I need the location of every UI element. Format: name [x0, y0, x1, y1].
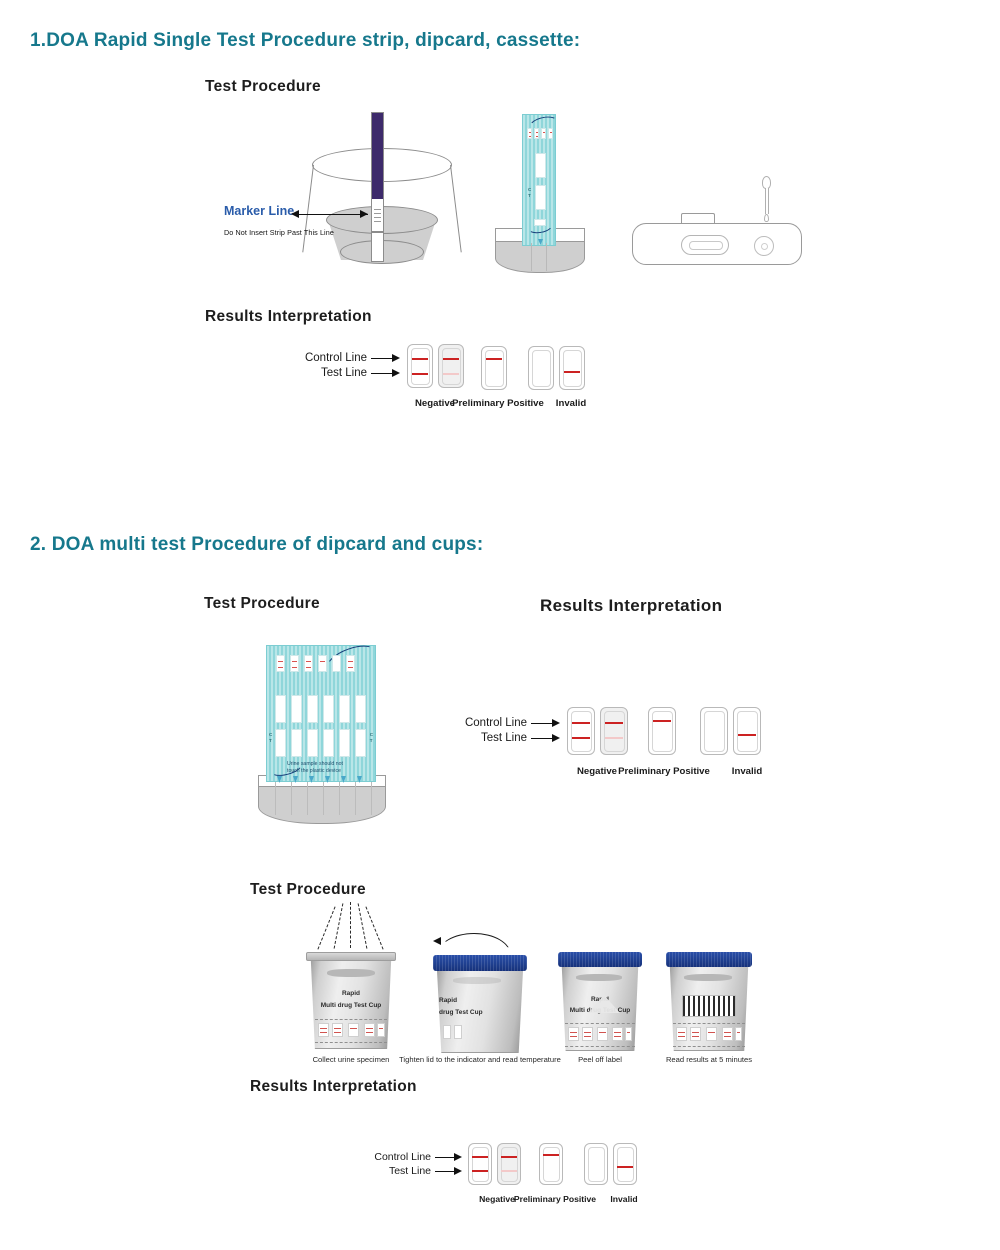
cup-step-4: Read results at 5 minutes — [648, 905, 778, 1055]
dipcard-mini-window — [346, 655, 355, 672]
control-line-arrow-head — [392, 354, 400, 362]
specimen-cup-illustration — [312, 130, 462, 280]
cassette-sample-well — [754, 236, 774, 256]
result-device-inner — [532, 350, 551, 387]
result-device-inner — [472, 1147, 489, 1182]
spray-line — [350, 902, 351, 948]
spray-line — [334, 903, 344, 948]
dipcard-mini-window — [548, 128, 553, 139]
cup-brand-line1: Rapid — [309, 990, 393, 997]
result-test-line — [412, 373, 428, 375]
cup-illustration: Rapid drug Test Cup — [435, 967, 525, 1053]
cassette-device — [632, 223, 802, 265]
cup-result-strip — [332, 1023, 343, 1037]
dipcard-window — [307, 729, 318, 757]
cup-result-strip — [625, 1027, 632, 1041]
dipcard-mini-line — [348, 667, 353, 668]
result-device-2 — [438, 344, 464, 388]
strip-tick — [374, 213, 381, 214]
dipcard-window — [275, 695, 286, 723]
strip-tick — [374, 221, 381, 222]
dipcard-ct-left: CT — [528, 187, 531, 198]
dipcard-mini-line — [543, 132, 545, 133]
dipcard-note: Urine sample should not touch the plasti… — [287, 761, 343, 775]
cup-result-strip — [568, 1027, 579, 1041]
dipcard-mini-line — [529, 132, 531, 133]
result-device-1 — [468, 1143, 492, 1185]
result-device-4 — [528, 346, 554, 390]
result-test-line — [617, 1166, 633, 1168]
result-control-line — [572, 722, 590, 724]
dipcard-mini-line — [306, 661, 311, 662]
result-device-inner — [737, 711, 758, 752]
cassette-sample-well-inner — [761, 243, 768, 250]
result-device-3 — [539, 1143, 563, 1185]
marker-arrow-head-right — [360, 210, 368, 218]
result-device-4 — [584, 1143, 608, 1185]
cup-result-strip — [706, 1027, 717, 1041]
dipcard-mini-window — [318, 655, 327, 672]
control-line-label: Control Line — [445, 717, 527, 729]
result-device-inner — [704, 711, 725, 752]
test-line-arrow-head — [392, 369, 400, 377]
dipcard-note-line2: touch the plastic device — [287, 768, 341, 774]
test-strip — [371, 112, 384, 262]
dipcard-ct-right: CT — [370, 732, 373, 743]
cup-grip — [684, 974, 732, 981]
result-test-line — [738, 734, 756, 736]
dipcard-mini-line — [306, 667, 311, 668]
rotate-arrow — [437, 933, 511, 955]
result-device-inner — [485, 350, 504, 387]
result-device-inner — [563, 350, 582, 387]
cup-step-1: Rapid Multi drug Test Cup Collect urine … — [300, 905, 410, 1055]
cup-open-rim — [306, 952, 396, 961]
spray-line — [365, 906, 383, 949]
rotate-arrow-head — [433, 937, 441, 945]
result-device-inner — [411, 348, 430, 385]
dipcard-window — [291, 729, 302, 757]
test-line-label: Test Line — [285, 367, 367, 379]
results-interpretation-group-3: Control Line Test Line Negative Prelim — [355, 1148, 685, 1218]
cup-grip — [453, 977, 501, 984]
dipcard-mini-line — [529, 136, 531, 137]
cup-brand-line2: drug Test Cup — [435, 1009, 525, 1016]
cup-result-strip — [318, 1023, 329, 1037]
result-caption-invalid: Invalid — [531, 398, 611, 409]
peel-label-flap — [588, 995, 620, 1013]
cup-result-strip — [377, 1023, 385, 1037]
result-device-inner — [571, 711, 592, 752]
test-line-arrow-head — [552, 734, 560, 742]
dipcard-immersed-tail — [531, 243, 547, 271]
result-device-inner — [617, 1147, 634, 1182]
cup-result-strip — [676, 1027, 687, 1041]
section-1-test-procedure-title: Test Procedure — [205, 78, 321, 96]
result-device-5 — [733, 707, 761, 755]
dipcard-mini-window — [304, 655, 313, 672]
cup-result-panel — [315, 1019, 387, 1043]
cup-result-strip — [454, 1025, 462, 1039]
dipcard-mini-line — [536, 136, 538, 137]
cup-result-strip — [690, 1027, 701, 1041]
cup-result-strip — [735, 1027, 742, 1041]
cup-result-panel — [673, 1023, 745, 1047]
cassette-result-window-inner — [689, 241, 723, 250]
cup-result-panel — [565, 1023, 635, 1047]
result-control-line — [443, 358, 459, 360]
cup-illustration: Rapid Multi drug Test Cup — [560, 963, 640, 1051]
section-1-results-title: Results Interpretation — [205, 308, 372, 326]
dipcard-window — [355, 695, 366, 723]
dipcard-mini-window — [534, 128, 539, 139]
result-test-line — [572, 737, 590, 739]
cup-brand-line2: Multi drug Test Cup — [309, 1002, 393, 1009]
cup-illustration — [668, 963, 750, 1051]
marker-line-note: Do Not Insert Strip Past This Line — [224, 228, 334, 237]
result-test-line — [472, 1170, 488, 1172]
test-line-arrow-line — [531, 738, 553, 739]
dipcard-mini-line — [278, 667, 283, 668]
test-line-label: Test Line — [445, 732, 527, 744]
cup-brand-line1: Rapid — [435, 997, 525, 1004]
page-root: 1.DOA Rapid Single Test Procedure strip,… — [0, 0, 1000, 1250]
dipcard-window — [307, 695, 318, 723]
dipcard-window — [339, 695, 350, 723]
cup-lid — [433, 955, 527, 971]
control-line-label: Control Line — [355, 1151, 431, 1163]
dipcard-mini-window — [527, 128, 532, 139]
control-line-arrow-head — [552, 719, 560, 727]
cup-result-strip — [722, 1027, 733, 1041]
result-control-line — [543, 1154, 559, 1156]
result-device-inner — [442, 348, 461, 385]
cup-wall-left — [302, 165, 314, 253]
section-2-dipcard-results-title: Results Interpretation — [540, 596, 722, 616]
cup-step-caption: Peel off label — [550, 1055, 650, 1064]
result-device-5 — [613, 1143, 637, 1185]
dipcard-window — [323, 729, 334, 757]
cup-step-2: Rapid drug Test Cup Tighten lid to the i… — [425, 905, 545, 1055]
dipcard-mini-line — [348, 661, 353, 662]
multi-dipcard-immersed-prongs — [272, 782, 372, 815]
result-control-line — [653, 720, 671, 722]
dipcard-mini-line — [320, 661, 325, 662]
result-device-4 — [700, 707, 728, 755]
cup-result-strip — [348, 1023, 359, 1037]
dipcard-mini-line — [536, 132, 538, 133]
dipcard-window — [535, 185, 546, 210]
result-device-inner — [543, 1147, 560, 1182]
result-device-5 — [559, 346, 585, 390]
strip-tick — [374, 217, 381, 218]
result-control-line — [412, 358, 428, 360]
dipcard-mini-window — [541, 128, 546, 139]
result-device-inner — [588, 1147, 605, 1182]
result-control-line — [605, 722, 623, 724]
cup-lid-ridges — [558, 952, 642, 967]
control-line-label: Control Line — [285, 352, 367, 364]
dipcard-mini-window — [276, 655, 285, 672]
test-strip-handle — [372, 113, 383, 199]
cup-result-strip — [612, 1027, 623, 1041]
dipcard-ct-left: CT — [269, 732, 272, 743]
spray-line — [317, 906, 335, 949]
cup-wall-right — [450, 165, 462, 253]
result-caption-invalid: Invalid — [586, 1194, 662, 1204]
result-test-line-faint — [605, 737, 623, 739]
dipcard-mini-line — [550, 132, 552, 133]
result-device-3 — [648, 707, 676, 755]
marker-line-label: Marker Line — [224, 204, 294, 218]
result-device-2 — [497, 1143, 521, 1185]
dropper-stem — [765, 188, 769, 214]
result-caption-invalid: Invalid — [705, 766, 789, 777]
result-test-line — [564, 371, 580, 373]
dipcard-window — [275, 729, 286, 757]
test-line-arrow-line — [371, 373, 393, 374]
dipcard-lower-window — [534, 219, 546, 226]
dipcard-window — [323, 695, 334, 723]
result-device-inner — [604, 711, 625, 752]
dipcard-mini-window — [290, 655, 299, 672]
dipcard-note-line1: Urine sample should not — [287, 761, 343, 767]
result-control-line — [486, 358, 502, 360]
result-test-line-faint — [501, 1170, 517, 1172]
control-line-arrow-line — [531, 723, 553, 724]
control-line-arrow-line — [435, 1157, 455, 1158]
cup-step-3: Rapid Multi drug Test Cup Peel off label — [548, 905, 658, 1055]
test-line-arrow-line — [435, 1171, 455, 1172]
cup-lid — [666, 952, 752, 967]
result-device-inner — [501, 1147, 518, 1182]
dipcard-mini-line — [292, 667, 297, 668]
result-device-2 — [600, 707, 628, 755]
result-device-inner — [652, 711, 673, 752]
dipcard-window — [355, 729, 366, 757]
dipcard-window — [339, 729, 350, 757]
result-control-line — [501, 1156, 517, 1158]
dipcard-mini-line — [292, 661, 297, 662]
section-2-cup-results-title: Results Interpretation — [250, 1078, 417, 1096]
section-2-dipcard-procedure-title: Test Procedure — [204, 595, 320, 613]
section-2-cup-procedure-title: Test Procedure — [250, 881, 366, 899]
result-device-3 — [481, 346, 507, 390]
cup-result-strip — [582, 1027, 593, 1041]
marker-arrow-line — [298, 214, 368, 215]
cup-grip — [327, 969, 375, 977]
strip-marker-band — [372, 231, 383, 233]
cup-result-strip — [364, 1023, 375, 1037]
strip-tick — [374, 209, 381, 210]
test-line-arrow-head — [454, 1167, 462, 1175]
control-line-arrow-line — [371, 358, 393, 359]
cup-illustration: Rapid Multi drug Test Cup — [309, 957, 393, 1049]
marker-arrow-head-left — [291, 210, 299, 218]
cup-result-strip — [597, 1027, 608, 1041]
result-test-line-faint — [443, 373, 459, 375]
control-line-arrow-head — [454, 1153, 462, 1161]
cassette-result-window — [681, 235, 729, 255]
test-line-label: Test Line — [355, 1165, 431, 1177]
result-device-1 — [567, 707, 595, 755]
dipcard-mini-window — [332, 655, 341, 672]
result-caption-preliminary-positive: Preliminary Positive — [614, 766, 714, 777]
dipcard-mini-line — [278, 661, 283, 662]
results-interpretation-group-1: Control Line Test Line — [285, 348, 615, 418]
section-1-heading: 1.DOA Rapid Single Test Procedure strip,… — [30, 30, 580, 52]
cup-grip — [576, 974, 622, 981]
dipcard-window — [535, 153, 546, 178]
result-device-1 — [407, 344, 433, 388]
cup-lid-ridges — [666, 952, 752, 967]
cup-test-strips-barcode — [682, 995, 736, 1017]
results-interpretation-group-2: Control Line Test Line Negative Prelim — [445, 713, 785, 783]
cup-lid — [558, 952, 642, 967]
dropper-droplet — [764, 214, 769, 222]
dipcard-single: CT — [522, 114, 556, 246]
section-2-heading: 2. DOA multi test Procedure of dipcard a… — [30, 534, 483, 556]
cup-result-strip — [443, 1025, 451, 1039]
multi-dipcard: CT CT Urine sample should not touch the … — [266, 645, 376, 782]
result-control-line — [472, 1156, 488, 1158]
cup-lid-ridges — [433, 955, 527, 971]
cup-step-caption: Read results at 5 minutes — [649, 1055, 769, 1064]
dipcard-window — [291, 695, 302, 723]
